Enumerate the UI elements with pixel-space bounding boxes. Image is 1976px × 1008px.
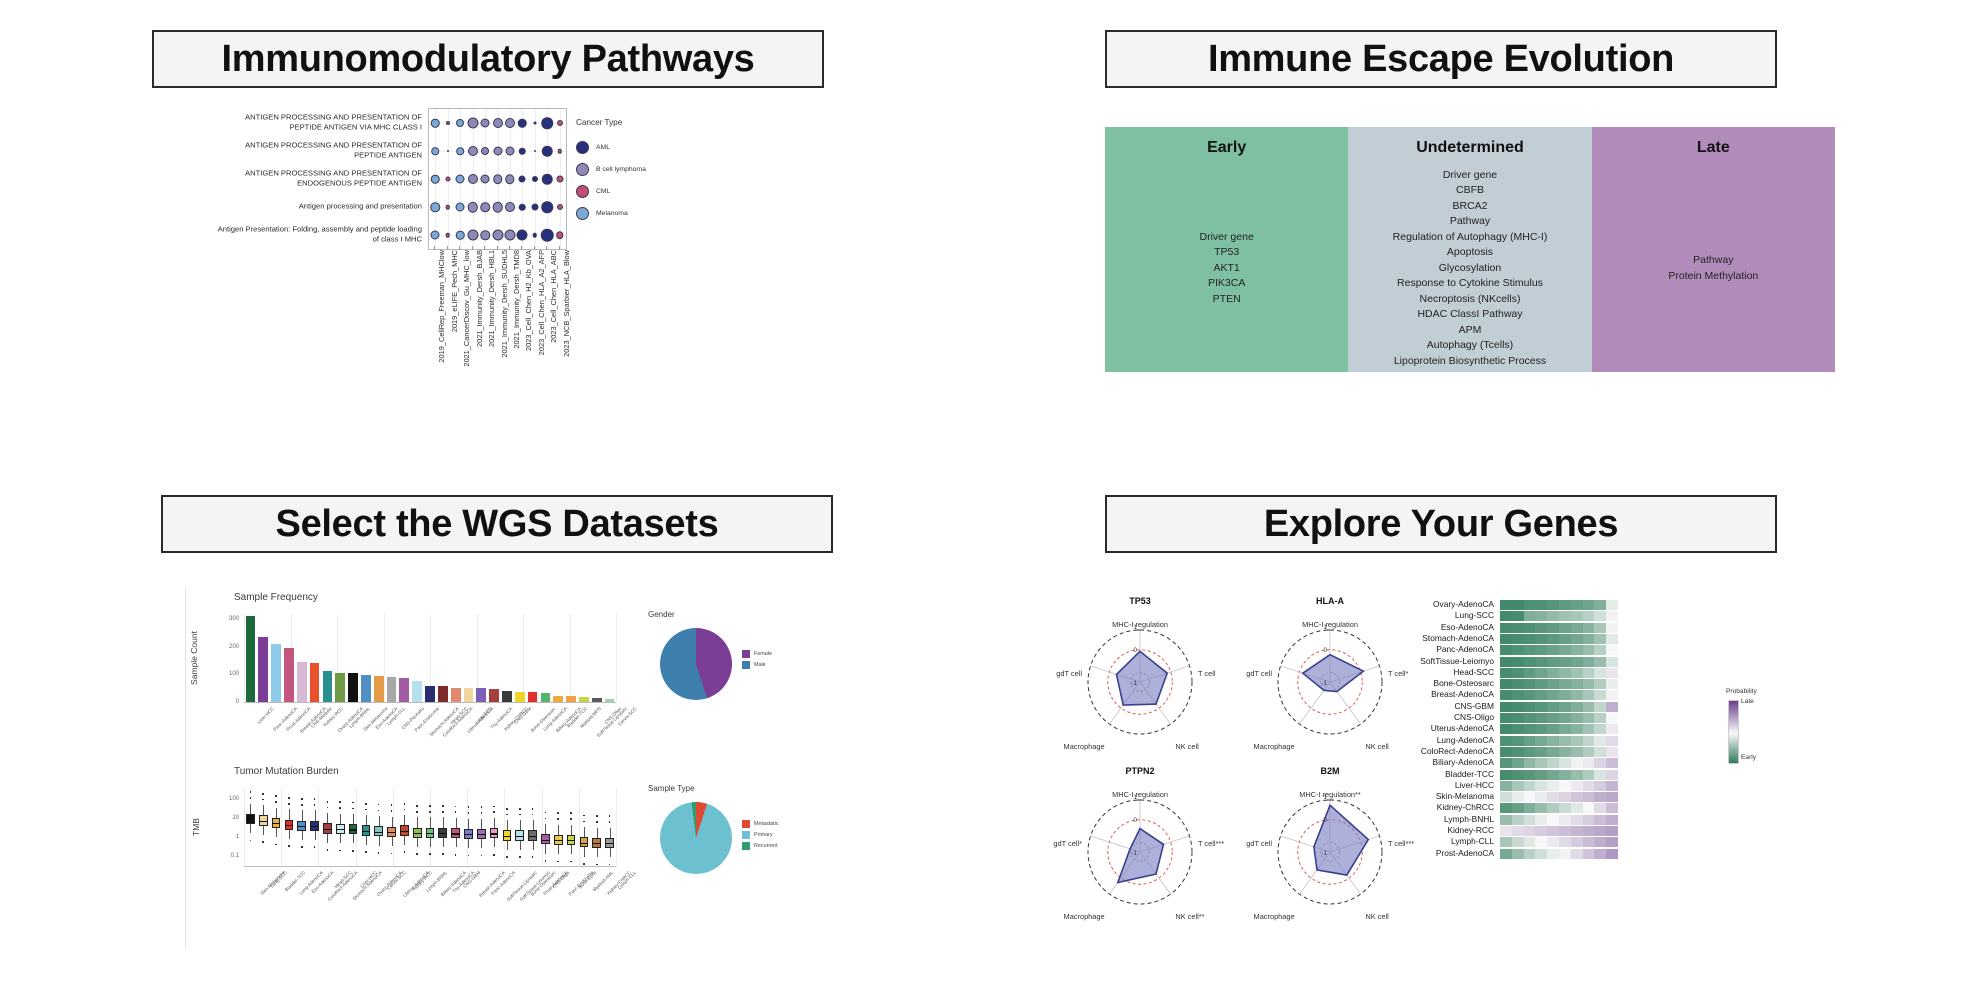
- radar-title: TP53: [1050, 596, 1230, 606]
- heatmap-cell: [1500, 679, 1512, 689]
- boxplot-median: [413, 833, 422, 834]
- heatmap-cell: [1535, 837, 1547, 847]
- legend-swatch: [742, 842, 750, 850]
- svg-text:-1: -1: [1321, 680, 1327, 687]
- colorbar-low-label: Early: [1741, 754, 1756, 761]
- bar: [528, 692, 538, 702]
- dotplot-dot: [557, 204, 563, 210]
- bar: [399, 678, 409, 702]
- escape-item: Regulation of Autophagy (MHC-I): [1393, 230, 1548, 246]
- banner-title: Immune Escape Evolution: [1208, 40, 1674, 78]
- radar-axis-label: gdT cell: [1246, 669, 1272, 678]
- legend-item: Recurrent: [742, 840, 779, 851]
- heatmap-cell: [1547, 713, 1559, 723]
- heatmap-row-label: Lymph-CLL: [1451, 836, 1494, 846]
- heatmap-cell: [1535, 679, 1547, 689]
- bar: [515, 692, 525, 702]
- heatmap-cell: [1512, 781, 1524, 791]
- escape-item: APM: [1459, 323, 1482, 339]
- heatmap-cell: [1594, 679, 1606, 689]
- heatmap-cell: [1524, 657, 1536, 667]
- heatmap-cell: [1524, 826, 1536, 836]
- boxplot-outlier: [481, 806, 483, 808]
- axis-tick: [447, 246, 448, 250]
- heatmap-cell: [1606, 736, 1618, 746]
- radar-axis-label: T cell: [1198, 669, 1216, 678]
- heatmap-cell: [1547, 702, 1559, 712]
- heatmap-cell: [1594, 758, 1606, 768]
- dotplot-column-label: 2021_Immunity_Dersh_BJAB: [475, 250, 484, 347]
- heatmap-cell: [1524, 702, 1536, 712]
- boxplot-median: [515, 836, 524, 837]
- legend-item: Female: [742, 648, 772, 659]
- bar: [297, 662, 307, 702]
- immunomodulatory-dotplot: ANTIGEN PROCESSING AND PRESENTATION OF P…: [200, 108, 640, 388]
- heatmap-row: [1500, 724, 1618, 734]
- escape-item: HDAC ClassI Pathway: [1417, 307, 1522, 323]
- heatmap-cell: [1606, 634, 1618, 644]
- heatmap-cell: [1594, 803, 1606, 813]
- radar-axis-label: gdT cell: [1246, 839, 1272, 848]
- heatmap-cell: [1559, 815, 1571, 825]
- boxplot-median: [259, 821, 268, 822]
- heatmap-cell: [1512, 668, 1524, 678]
- heatmap-cell: [1512, 792, 1524, 802]
- heatmap-cell: [1559, 611, 1571, 621]
- heatmap-cell: [1606, 645, 1618, 655]
- heatmap-cell: [1583, 826, 1595, 836]
- heatmap-row-label: ColoRect-AdenoCA: [1421, 746, 1494, 756]
- heatmap-cell: [1524, 747, 1536, 757]
- dotplot-dot: [505, 174, 515, 184]
- heatmap-cell: [1535, 826, 1547, 836]
- svg-text:0: 0: [1133, 817, 1137, 824]
- bar: [476, 688, 486, 702]
- heatmap-row-label: CNS-Oligo: [1454, 712, 1494, 722]
- heatmap-cell: [1512, 623, 1524, 633]
- heatmap-cell: [1606, 758, 1618, 768]
- heatmap-row-label: Ovary-AdenoCA: [1433, 599, 1494, 609]
- heatmap-cell: [1547, 747, 1559, 757]
- heatmap-cell: [1524, 600, 1536, 610]
- boxplot-median: [477, 834, 486, 835]
- axis-tick: [521, 246, 522, 250]
- heatmap-cell: [1583, 724, 1595, 734]
- banner-immunomodulatory-pathways[interactable]: Immunomodulatory Pathways: [152, 30, 824, 88]
- heatmap-cell: [1583, 770, 1595, 780]
- boxplot-outlier: [301, 804, 303, 806]
- heatmap-cell: [1535, 724, 1547, 734]
- y-axis-tick-label: 200: [229, 644, 239, 650]
- banner-select-wgs-datasets[interactable]: Select the WGS Datasets: [161, 495, 833, 553]
- legend-swatch: [576, 163, 589, 176]
- heatmap-cell: [1606, 713, 1618, 723]
- escape-item: Autophagy (Tcells): [1427, 338, 1513, 354]
- heatmap-cell: [1559, 837, 1571, 847]
- boxplot-outlier: [506, 856, 508, 858]
- sample-type-pie: [660, 802, 732, 874]
- heatmap-row-label: CNS-GBM: [1454, 701, 1494, 711]
- legend-label: Recurrent: [754, 843, 778, 849]
- heatmap-cell: [1583, 815, 1595, 825]
- explore-genes-figure: TP5310-1MHC-I regulationT cellNK cellMac…: [1040, 588, 1920, 948]
- heatmap-cell: [1500, 747, 1512, 757]
- heatmap-cell: [1547, 634, 1559, 644]
- y-axis-tick-label: 1: [236, 834, 239, 840]
- heatmap-row: [1500, 792, 1618, 802]
- axis-tick: [559, 246, 560, 250]
- escape-item: CBFB: [1456, 183, 1484, 199]
- dotplot-dot: [467, 230, 478, 241]
- heatmap-cell: [1500, 657, 1512, 667]
- heatmap-cell: [1524, 803, 1536, 813]
- boxplot-outlier: [327, 807, 329, 809]
- dotplot-dot: [493, 118, 503, 128]
- boxplot-outlier: [327, 849, 329, 851]
- svg-text:-1: -1: [1321, 850, 1327, 857]
- heatmap-cell: [1547, 837, 1559, 847]
- heatmap-row: [1500, 758, 1618, 768]
- heatmap-cell: [1571, 690, 1583, 700]
- dotplot-dot: [456, 147, 464, 155]
- dotplot-dot: [445, 177, 450, 182]
- boxplot-outlier: [570, 818, 572, 820]
- heatmap-row: [1500, 713, 1618, 723]
- boxplot-outlier: [378, 804, 380, 806]
- dotplot-column-label: 2023_Cell_Chen_H2_Kb_OVA: [524, 250, 533, 351]
- boxplot-outlier: [365, 851, 367, 853]
- heatmap-cell: [1500, 849, 1512, 859]
- heatmap-cell: [1500, 668, 1512, 678]
- boxplot-outlier: [365, 803, 367, 805]
- dotplot-dot: [467, 202, 478, 213]
- boxplot-median: [567, 840, 576, 841]
- heatmap-cell: [1571, 736, 1583, 746]
- heatmap-cell: [1594, 668, 1606, 678]
- radar-chart-ptpn2: PTPN210-1MHC-I regulationT cell***NK cel…: [1050, 766, 1230, 926]
- heatmap-cell: [1583, 792, 1595, 802]
- heatmap-cell: [1583, 611, 1595, 621]
- heatmap-row-label: Kidney-ChRCC: [1437, 802, 1494, 812]
- heatmap-cell: [1500, 702, 1512, 712]
- heatmap-cell: [1535, 758, 1547, 768]
- heatmap-cell: [1512, 645, 1524, 655]
- heatmap-cell: [1535, 600, 1547, 610]
- heatmap-cell: [1594, 770, 1606, 780]
- boxplot-outlier: [545, 818, 547, 820]
- dotplot-column-label: 2019_eLIFE_Pech_MHC: [450, 250, 459, 332]
- heatmap-cell: [1535, 690, 1547, 700]
- boxplot-outlier: [314, 846, 316, 848]
- bar: [425, 686, 435, 702]
- boxplot-outlier: [455, 806, 457, 808]
- legend-swatch: [742, 820, 750, 828]
- bar: [258, 637, 268, 702]
- heatmap-cell: [1512, 679, 1524, 689]
- heatmap-cell: [1547, 623, 1559, 633]
- boxplot-outlier: [404, 803, 406, 805]
- heatmap-cell: [1571, 770, 1583, 780]
- heatmap-row-label: SoftTissue-Leiomyo: [1420, 656, 1494, 666]
- heatmap-cell: [1583, 702, 1595, 712]
- legend-label: Melanoma: [596, 210, 628, 217]
- heatmap-cell: [1512, 849, 1524, 859]
- bar: [271, 644, 281, 702]
- boxplot-median: [528, 836, 537, 837]
- dotplot-row-label: ANTIGEN PROCESSING AND PRESENTATION OF P…: [212, 141, 422, 160]
- escape-item: TP53: [1214, 245, 1239, 261]
- heatmap-cell: [1512, 724, 1524, 734]
- boxplot-outlier: [314, 798, 316, 800]
- gridline-vertical: [616, 788, 617, 866]
- dotplot-dot: [505, 118, 515, 128]
- radar-chart-hla-a: HLA-A10-1MHC-I regulationT cell*NK cellM…: [1240, 596, 1420, 756]
- heatmap-cell: [1524, 690, 1536, 700]
- heatmap-cell: [1571, 803, 1583, 813]
- heatmap-cell: [1524, 713, 1536, 723]
- heatmap-cell: [1583, 713, 1595, 723]
- escape-item: BRCA2: [1452, 199, 1487, 215]
- heatmap-cell: [1547, 679, 1559, 689]
- bar: [502, 691, 512, 702]
- heatmap-cell: [1571, 600, 1583, 610]
- dotplot-dot: [519, 148, 526, 155]
- heatmap-cell: [1583, 837, 1595, 847]
- boxplot-outlier: [301, 846, 303, 848]
- radar-axis-label: gdT cell: [1056, 669, 1082, 678]
- boxplot-outlier: [506, 808, 508, 810]
- radar-axis-label: Macrophage: [1064, 912, 1105, 921]
- heatmap-cell: [1583, 679, 1595, 689]
- radar-axis-label: MHC-I regulation: [1112, 790, 1168, 799]
- banner-title: Select the WGS Datasets: [276, 505, 719, 543]
- heatmap-cell: [1583, 657, 1595, 667]
- heatmap-cell: [1524, 634, 1536, 644]
- heatmap-row: [1500, 623, 1618, 633]
- heatmap-cell: [1547, 803, 1559, 813]
- boxplot-outlier: [596, 864, 598, 866]
- legend-swatch: [576, 141, 589, 154]
- heatmap-row-label: Lymph-BNHL: [1444, 814, 1494, 824]
- boxplot-outlier: [545, 812, 547, 814]
- boxplot-outlier: [557, 861, 559, 863]
- heatmap-cell: [1559, 803, 1571, 813]
- heatmap-row-label: Breast-AdenoCA: [1431, 689, 1494, 699]
- dotplot-dot: [504, 230, 515, 241]
- bar: [284, 648, 294, 702]
- heatmap-cell: [1571, 758, 1583, 768]
- colorbar: [1728, 700, 1739, 764]
- boxplot-outlier: [365, 809, 367, 811]
- heatmap-cell: [1535, 747, 1547, 757]
- heatmap-cell: [1606, 679, 1618, 689]
- heatmap-cell: [1559, 781, 1571, 791]
- boxplot-outlier: [468, 812, 470, 814]
- legend-swatch: [742, 661, 750, 669]
- dotplot-dot: [481, 175, 490, 184]
- bar: [310, 663, 320, 702]
- banner-explore-your-genes[interactable]: Explore Your Genes: [1105, 495, 1777, 553]
- escape-item: Driver gene: [1200, 230, 1254, 246]
- heatmap-cell: [1571, 792, 1583, 802]
- boxplot-median: [246, 819, 255, 820]
- heatmap-cell: [1559, 713, 1571, 723]
- heatmap-cell: [1524, 679, 1536, 689]
- boxplot-outlier: [262, 841, 264, 843]
- heatmap-cell: [1559, 826, 1571, 836]
- boxplot-median: [503, 836, 512, 837]
- boxplot-outlier: [429, 805, 431, 807]
- radar-axis-label: gdT cell*: [1053, 839, 1082, 848]
- radar-axis-label: NK cell: [1365, 912, 1388, 921]
- bar: [553, 696, 563, 702]
- dotplot-dot: [557, 120, 563, 126]
- heatmap-row-label: Stomach-AdenoCA: [1422, 633, 1494, 643]
- heatmap-cell: [1500, 600, 1512, 610]
- gridline-vertical: [504, 788, 505, 866]
- escape-item: PIK3CA: [1208, 276, 1245, 292]
- escape-item: Apoptosis: [1447, 245, 1493, 261]
- escape-item: AKT1: [1214, 261, 1240, 277]
- heatmap-cell: [1606, 815, 1618, 825]
- legend-swatch: [576, 185, 589, 198]
- bar: [464, 688, 474, 702]
- svg-text:0: 0: [1323, 817, 1327, 824]
- heatmap-cell: [1606, 803, 1618, 813]
- banner-immune-escape-evolution[interactable]: Immune Escape Evolution: [1105, 30, 1777, 88]
- boxplot-median: [336, 829, 345, 830]
- heatmap-cell: [1559, 679, 1571, 689]
- heatmap-cell: [1500, 645, 1512, 655]
- heatmap-cell: [1559, 657, 1571, 667]
- heatmap-cell: [1524, 781, 1536, 791]
- axis-tick: [534, 246, 535, 250]
- heatmap-cell: [1547, 657, 1559, 667]
- heatmap-cell: [1559, 702, 1571, 712]
- heatmap-cell: [1571, 611, 1583, 621]
- dotplot-dot: [558, 149, 563, 154]
- boxplot-outlier: [557, 818, 559, 820]
- heatmap-cell: [1512, 657, 1524, 667]
- heatmap-row: [1500, 702, 1618, 712]
- boxplot-outlier: [275, 795, 277, 797]
- heatmap-row: [1500, 600, 1618, 610]
- heatmap-cell: [1547, 792, 1559, 802]
- heatmap-cell: [1594, 600, 1606, 610]
- heatmap-cell: [1512, 634, 1524, 644]
- svg-text:0: 0: [1133, 647, 1137, 654]
- legend-item: Male: [742, 659, 772, 670]
- heatmap-row-label: Uterus-AdenoCA: [1431, 723, 1494, 733]
- boxplot-median: [451, 833, 460, 834]
- gender-pie-legend: FemaleMale: [742, 648, 772, 670]
- gender-pie: [660, 628, 732, 700]
- dotplot-dot: [431, 231, 440, 240]
- heatmap-cell: [1547, 758, 1559, 768]
- heatmap-cell: [1500, 792, 1512, 802]
- dotplot-dot: [492, 230, 503, 241]
- heatmap-cell: [1594, 792, 1606, 802]
- escape-item-list: Driver geneTP53AKT1PIK3CAPTEN: [1105, 165, 1348, 372]
- sample-count-axis-title: Sample Count: [189, 631, 199, 685]
- boxplot-outlier: [442, 853, 444, 855]
- heatmap-cell: [1571, 724, 1583, 734]
- heatmap-cell: [1583, 747, 1595, 757]
- svg-text:-1: -1: [1131, 680, 1137, 687]
- heatmap-cell: [1547, 770, 1559, 780]
- boxplot-outlier: [570, 812, 572, 814]
- dotplot-dot: [505, 202, 515, 212]
- heatmap-cell: [1594, 623, 1606, 633]
- radar-axis-label: MHC-I regulation: [1112, 620, 1168, 629]
- escape-item: Lipoprotein Biosynthetic Process: [1394, 354, 1546, 370]
- dotplot-dot: [534, 150, 536, 152]
- heatmap-row: [1500, 770, 1618, 780]
- heatmap-cell: [1606, 747, 1618, 757]
- heatmap-row-label: Bladder-TCC: [1445, 769, 1494, 779]
- boxplot-outlier: [583, 821, 585, 823]
- boxplot-outlier: [519, 856, 521, 858]
- heatmap-cell: [1606, 770, 1618, 780]
- axis-tick: [459, 246, 460, 250]
- y-axis-tick-label: 10: [232, 815, 239, 821]
- boxplot-outlier: [609, 815, 611, 817]
- boxplot-outlier: [275, 844, 277, 846]
- heatmap-cell: [1583, 781, 1595, 791]
- heatmap-cell: [1524, 736, 1536, 746]
- bar: [489, 689, 499, 702]
- dotplot-dot: [468, 174, 478, 184]
- dotplot-dot: [467, 118, 478, 129]
- boxplot-outlier: [339, 807, 341, 809]
- heatmap-cell: [1512, 826, 1524, 836]
- escape-item-list: PathwayProtein Methylation: [1592, 165, 1835, 372]
- boxplot-outlier: [327, 801, 329, 803]
- dotplot-dot: [430, 202, 440, 212]
- boxplot-median: [438, 833, 447, 834]
- colorbar-title: Probability: [1726, 688, 1757, 695]
- boxplot-outlier: [468, 806, 470, 808]
- legend-label: Female: [754, 651, 772, 657]
- heatmap-cell: [1512, 758, 1524, 768]
- escape-column-header: Late: [1697, 139, 1730, 157]
- heatmap-cell: [1547, 611, 1559, 621]
- gridline-vertical: [616, 614, 617, 702]
- heatmap-row: [1500, 815, 1618, 825]
- dotplot-dot: [445, 205, 450, 210]
- boxplot-outlier: [506, 814, 508, 816]
- heatmap-cell: [1547, 645, 1559, 655]
- heatmap-cell: [1500, 758, 1512, 768]
- heatmap-cell: [1571, 668, 1583, 678]
- heatmap-cell: [1512, 736, 1524, 746]
- dotplot-dot: [445, 233, 450, 238]
- boxplot-outlier: [532, 856, 534, 858]
- heatmap-row-label: Lung-AdenoCA: [1437, 735, 1494, 745]
- boxplot-outlier: [468, 855, 470, 857]
- heatmap-cell: [1547, 826, 1559, 836]
- heatmap-cell: [1606, 724, 1618, 734]
- heatmap-cell: [1535, 668, 1547, 678]
- dotplot-dot: [533, 233, 538, 238]
- sample-type-pie-legend: MetastaticPrimaryRecurrent: [742, 818, 779, 851]
- y-axis-tick-label: 300: [229, 616, 239, 622]
- radar-axis-label: T cell***: [1388, 839, 1414, 848]
- svg-text:0: 0: [1323, 647, 1327, 654]
- heatmap-cell: [1524, 623, 1536, 633]
- bar: [374, 676, 384, 702]
- radar-axis-label: MHC-I regulation: [1302, 620, 1358, 629]
